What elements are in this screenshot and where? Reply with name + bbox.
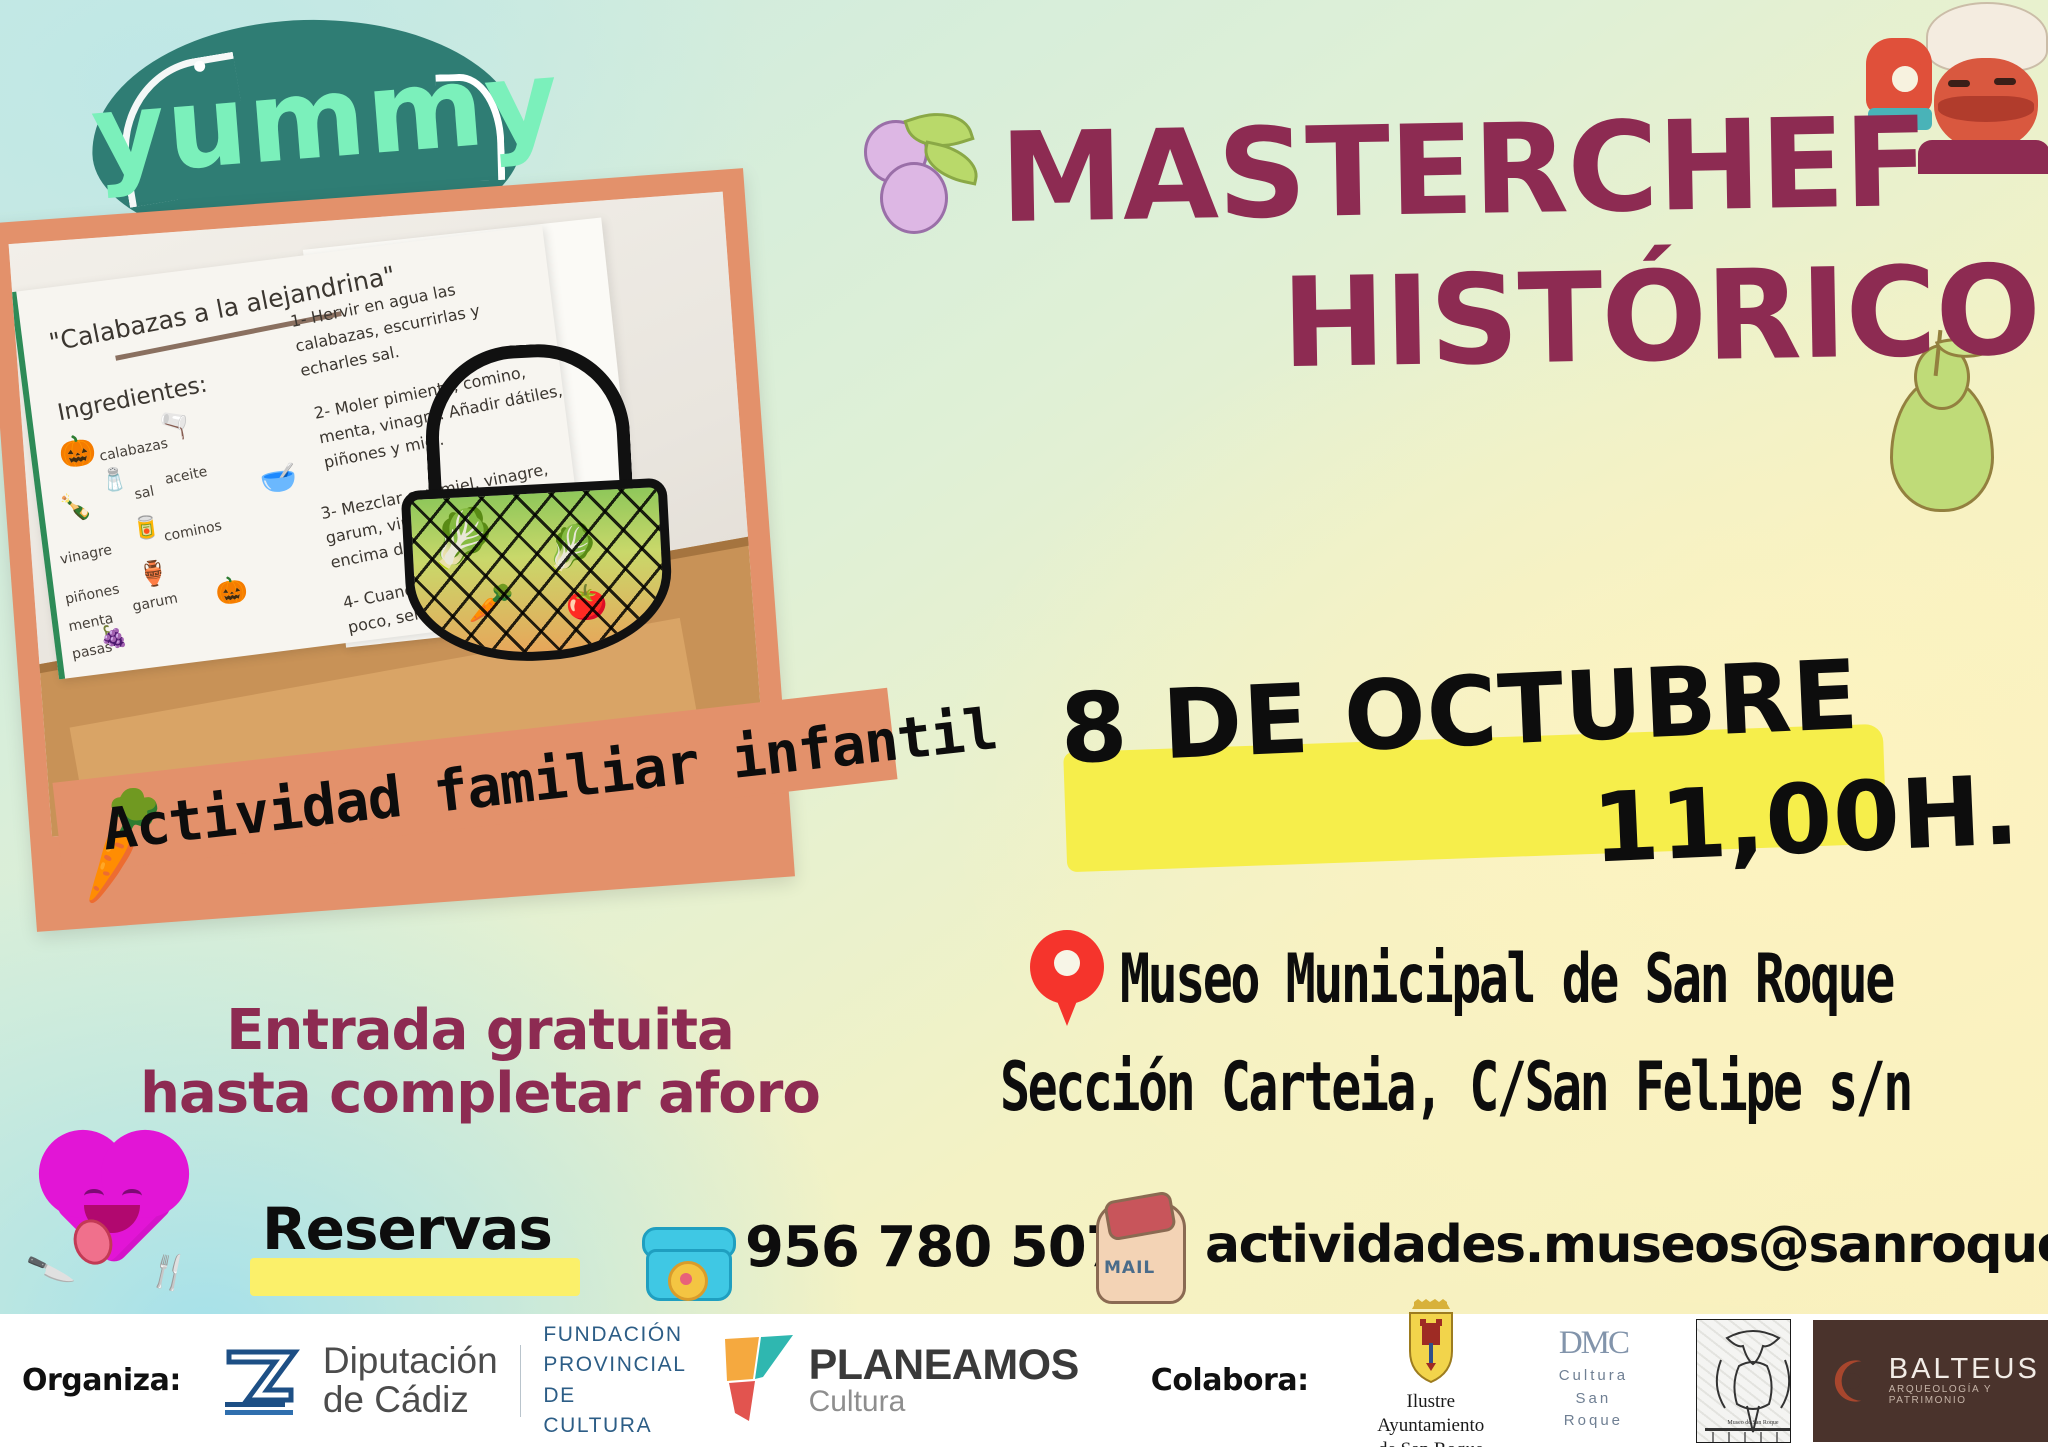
pumpkin-icon: 🎃 — [214, 575, 249, 605]
planeamos-mark-icon — [723, 1335, 795, 1427]
fundacion-line3: DE CULTURA — [543, 1381, 686, 1442]
phone-icon — [640, 1205, 732, 1297]
ingredient-label: cominos — [163, 518, 224, 545]
ayuntamiento-text: Ilustre Ayuntamiento de San Roque — [1365, 1390, 1497, 1447]
fundacion-provincial-cultura: FUNDACIÓN PROVINCIAL DE CULTURA — [543, 1320, 686, 1442]
csr-line2: San Roque — [1551, 1388, 1636, 1433]
fork-icon: 🍴 — [144, 1248, 194, 1296]
location-pin-icon — [1030, 930, 1104, 1030]
ayuntamiento-logo: Ilustre Ayuntamiento de San Roque — [1365, 1299, 1497, 1447]
email-address[interactable]: actividades.museos@sanroque.es — [1205, 1215, 2048, 1275]
ingredient-label: vinagre — [59, 542, 114, 568]
reservations-label: Reservas — [262, 1195, 552, 1263]
diputacion-line2: de Cádiz — [323, 1381, 498, 1420]
garum-icon: 🏺 — [137, 561, 170, 589]
raisins-icon: 🍇 — [99, 624, 129, 649]
sponsor-footer: Organiza: Diputación de Cádiz FUNDACIÓN … — [0, 1314, 2048, 1447]
venue-name: Museo Municipal de San Roque — [1120, 940, 2048, 1018]
ayuntamiento-line2: de San Roque — [1365, 1438, 1497, 1447]
fundacion-line2: PROVINCIAL — [543, 1350, 686, 1380]
museo-sketch-logo-icon: Museo de San Roque — [1696, 1319, 1791, 1443]
heart-eye-left-icon — [84, 1189, 104, 1203]
mail-bag-icon: MAIL — [1090, 1192, 1190, 1302]
chef-eye-right-icon — [1994, 78, 2016, 85]
planeamos-text: PLANEAMOS Cultura — [809, 1344, 1079, 1417]
csr-line1: Cultura — [1551, 1365, 1636, 1388]
diputacion-text: Diputación de Cádiz — [323, 1342, 498, 1420]
free-entry-block: Entrada gratuita hasta completar aforo — [0, 1000, 960, 1125]
phone-number[interactable]: 956 780 507 — [745, 1215, 1124, 1280]
diputacion-logo: Diputación de Cádiz — [221, 1342, 498, 1420]
cultura-san-roque-logo: DMC Cultura San Roque — [1551, 1328, 1636, 1433]
planeamos-logo: PLANEAMOS Cultura — [723, 1335, 1079, 1427]
balteus-mark-icon — [1827, 1352, 1877, 1410]
free-entry-line2: hasta completar aforo — [0, 1063, 960, 1126]
organiza-label: Organiza: — [22, 1363, 181, 1398]
ingredient-label: calabazas — [98, 436, 169, 465]
mesh-produce-bag: 🥬 🥬 🥕 🍅 — [387, 338, 662, 651]
cultura-san-roque-mark-icon: DMC — [1559, 1328, 1628, 1359]
planeamos-line2: Cultura — [809, 1387, 1079, 1417]
salt-shaker-icon: 🧂 — [99, 467, 129, 492]
ayuntamiento-line1: Ilustre Ayuntamiento — [1365, 1390, 1497, 1438]
pumpkin-icon: 🎃 — [57, 435, 98, 469]
vinegar-bottle-icon: 🍾 — [58, 492, 93, 522]
bag-mesh-pattern — [410, 487, 666, 658]
free-entry-line1: Entrada gratuita — [0, 1000, 960, 1063]
ayuntamiento-shield-icon — [1400, 1299, 1462, 1385]
cultura-san-roque-text: Cultura San Roque — [1551, 1365, 1636, 1433]
diputacion-mark-icon — [221, 1342, 309, 1420]
balteus-logo: BALTEUS ARQUEOLOGÍA Y PATRIMONIO — [1813, 1320, 2048, 1442]
heart-eye-right-icon — [122, 1189, 142, 1203]
bag-body: 🥬 🥬 🥕 🍅 — [401, 478, 676, 668]
fundacion-line1: FUNDACIÓN — [543, 1320, 686, 1350]
reservations-highlight — [250, 1258, 580, 1296]
cumin-icon: 🥫 — [132, 516, 162, 541]
museo-sketch-caption: Museo de San Roque — [1727, 1420, 1778, 1426]
planeamos-line1: PLANEAMOS — [809, 1344, 1079, 1387]
mortar-pestle-icon: 🥣 — [258, 462, 299, 496]
ingredient-label: garum — [131, 590, 179, 615]
berry-icon — [860, 110, 980, 240]
chef-eye-left-icon — [1948, 80, 1970, 87]
colabora-label: Colabora: — [1151, 1363, 1309, 1398]
page-title-line1: MASTERCHEF — [999, 99, 2041, 241]
balteus-tagline: ARQUEOLOGÍA Y PATRIMONIO — [1889, 1384, 2048, 1406]
speech-bubble-text: yummy — [88, 47, 525, 192]
poster-root: yummy 🎃 calabazas "Calabazas a la alejan… — [0, 0, 2048, 1447]
diputacion-line1: Diputación — [323, 1342, 498, 1381]
ingredient-label: sal — [133, 483, 155, 503]
balteus-name: BALTEUS — [1889, 1355, 2048, 1384]
footer-divider — [520, 1345, 522, 1417]
oil-bottle-icon: 🫗 — [157, 411, 192, 441]
page-title-line2: HISTÓRICO — [999, 249, 2048, 391]
venue-address: Sección Carteia, C/San Felipe s/n — [1000, 1048, 2048, 1126]
heart-face — [78, 1189, 150, 1235]
ingredient-label: piñones — [64, 581, 121, 607]
ingredient-label: aceite — [164, 464, 209, 488]
